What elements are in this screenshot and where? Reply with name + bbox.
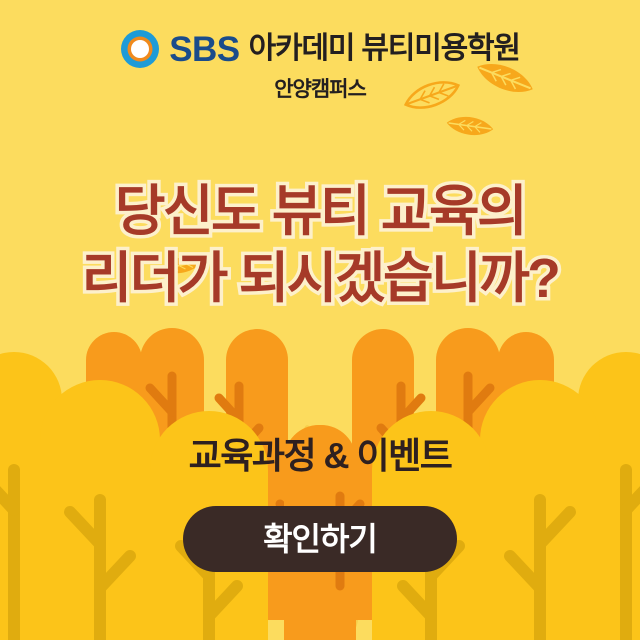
headline-line-1: 당신도 뷰티 교육의: [0, 178, 640, 245]
tree-row-yellow: [0, 352, 640, 640]
headline-block: 당신도 뷰티 교육의 리더가 되시겠습니까?: [0, 178, 640, 311]
confirm-button[interactable]: 확인하기: [183, 506, 457, 572]
logo-row: SBS 아카데미 뷰티미용학원: [0, 28, 640, 70]
sbs-circle-logo-icon: [120, 29, 160, 69]
leaf-top-filled-center: [446, 114, 495, 138]
brand-header: SBS 아카데미 뷰티미용학원 안양캠퍼스: [0, 28, 640, 100]
headline-line-2: 리더가 되시겠습니까?: [0, 245, 640, 312]
promo-banner: SBS 아카데미 뷰티미용학원 안양캠퍼스 당신도 뷰티 교육의 리더가 되시겠…: [0, 0, 640, 640]
tree-row-orange: [4, 328, 636, 640]
brand-wordmark: SBS: [169, 32, 239, 67]
campus-name: 안양캠퍼스: [0, 79, 640, 100]
academy-name: 아카데미 뷰티미용학원: [249, 34, 520, 64]
subtitle-text: 교육과정 & 이벤트: [0, 434, 640, 477]
cta-container: 확인하기: [0, 506, 640, 572]
